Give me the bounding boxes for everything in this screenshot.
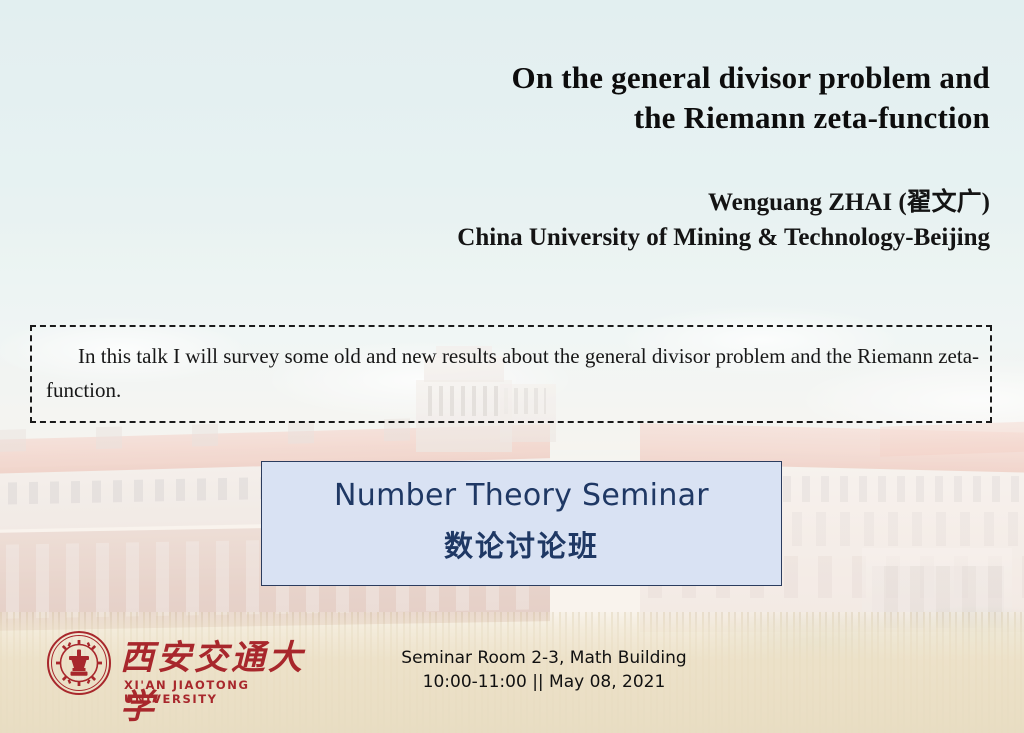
seminar-poster: On the general divisor problem and the R… — [0, 0, 1024, 733]
speaker-affiliation: China University of Mining & Technology-… — [290, 221, 990, 256]
speaker-name: Wenguang ZHAI (翟文广) — [290, 186, 990, 221]
logo-name-english: XI'AN JIAOTONG UNIVERSITY — [124, 678, 308, 706]
abstract-box: In this talk I will survey some old and … — [30, 325, 992, 423]
abstract-text: In this talk I will survey some old and … — [46, 339, 980, 407]
talk-title-line-1: On the general divisor problem and — [330, 58, 990, 98]
seminar-name-chinese: 数论讨论班 — [262, 523, 781, 565]
event-details: Seminar Room 2-3, Math Building 10:00-11… — [312, 646, 776, 694]
speaker-block: Wenguang ZHAI (翟文广) China University of … — [290, 186, 990, 255]
seminar-name-english: Number Theory Seminar — [262, 478, 781, 513]
talk-title-line-2: the Riemann zeta-function — [330, 98, 990, 138]
event-time: 10:00-11:00 || May 08, 2021 — [312, 670, 776, 694]
event-venue: Seminar Room 2-3, Math Building — [312, 646, 776, 670]
university-seal-icon: 1896 — [46, 630, 112, 696]
university-logo: 1896 西安交通大学 XI'AN JIAOTONG UNIVERSITY — [46, 628, 308, 702]
svg-text:1896: 1896 — [74, 677, 84, 681]
seminar-series-banner: Number Theory Seminar 数论讨论班 — [261, 461, 782, 586]
talk-title: On the general divisor problem and the R… — [330, 58, 990, 139]
